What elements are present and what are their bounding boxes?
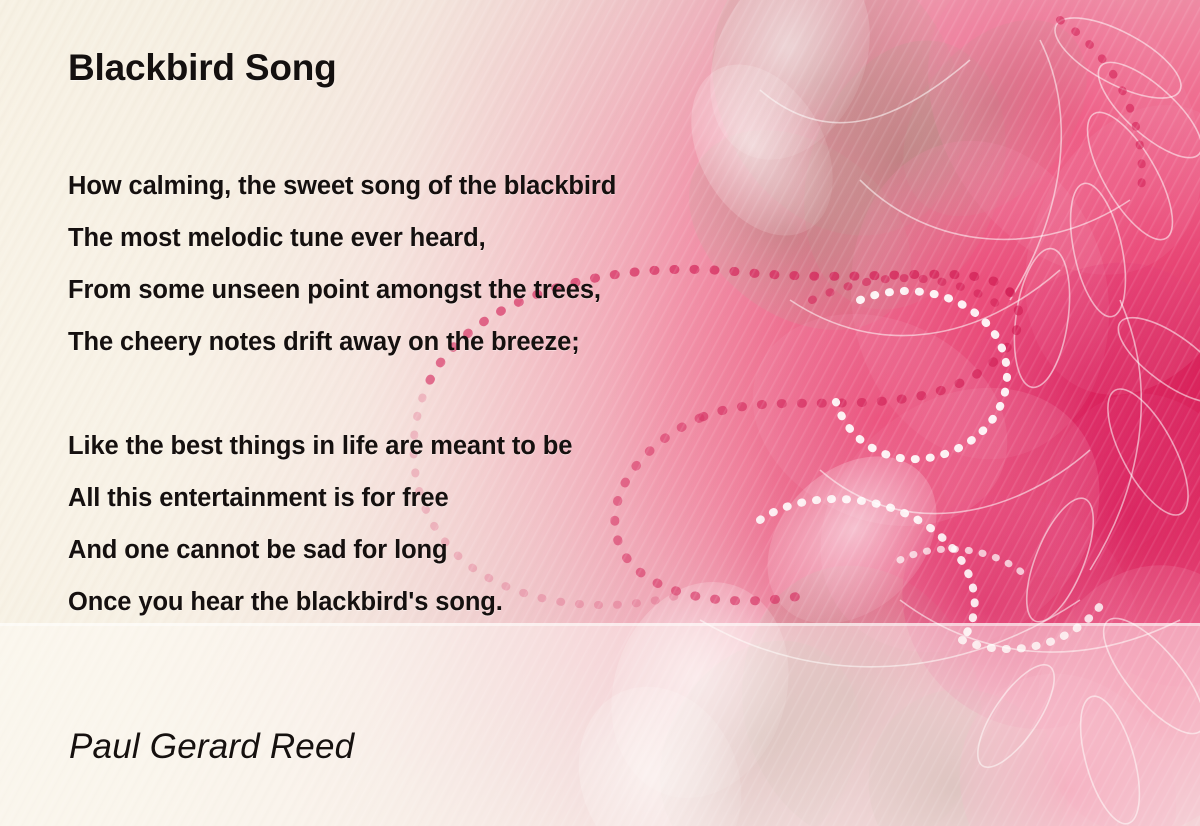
dot-trail-white-1 — [836, 291, 1007, 459]
dot-trail-crimson-6 — [1060, 20, 1142, 200]
poem-line: And one cannot be sad for long — [68, 524, 848, 576]
dot-trail-white-4 — [900, 549, 1030, 580]
poem-line: The most melodic tune ever heard, — [68, 212, 848, 264]
poem-body: How calming, the sweet song of the black… — [68, 160, 848, 628]
background-lower-band — [0, 623, 1200, 826]
poem-title: Blackbird Song — [68, 47, 337, 89]
poem-line: From some unseen point amongst the trees… — [68, 264, 848, 316]
poem-card: Blackbird Song How calming, the sweet so… — [0, 0, 1200, 826]
poem-line: How calming, the sweet song of the black… — [68, 160, 848, 212]
poem-line: Once you hear the blackbird's song. — [68, 576, 848, 628]
poem-author: Paul Gerard Reed — [69, 727, 354, 767]
poem-line: Like the best things in life are meant t… — [68, 420, 848, 472]
poem-line: The cheery notes drift away on the breez… — [68, 316, 848, 368]
poem-line: All this entertainment is for free — [68, 472, 848, 524]
poem-stanza-break — [68, 368, 848, 420]
